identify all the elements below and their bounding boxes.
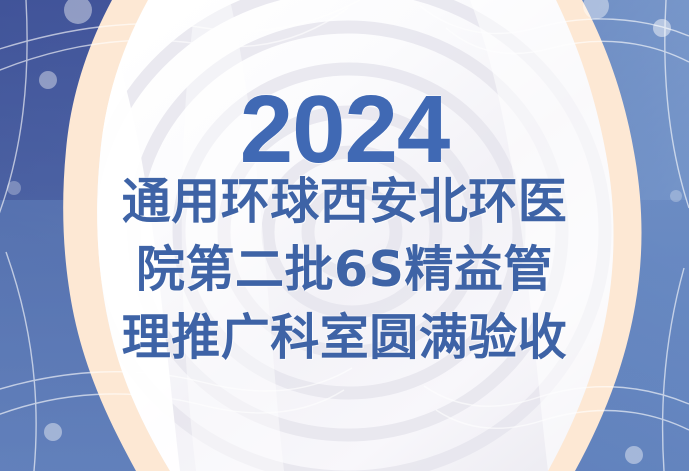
dot-bottom-right	[625, 446, 643, 464]
dot-top-right-small	[653, 19, 671, 37]
poster-canvas: 2024 通用环球西安北环医 院第二批6S精益管 理推广科室圆满验收	[0, 0, 689, 471]
dot-mid-left	[7, 181, 21, 195]
dot-mid-right	[670, 190, 682, 202]
dot-top-left-large	[64, 0, 92, 24]
dot-bottom-left	[44, 423, 62, 441]
dot-left-small	[39, 71, 57, 89]
decorative-dots	[0, 0, 689, 471]
dot-top-right-large	[583, 0, 609, 19]
